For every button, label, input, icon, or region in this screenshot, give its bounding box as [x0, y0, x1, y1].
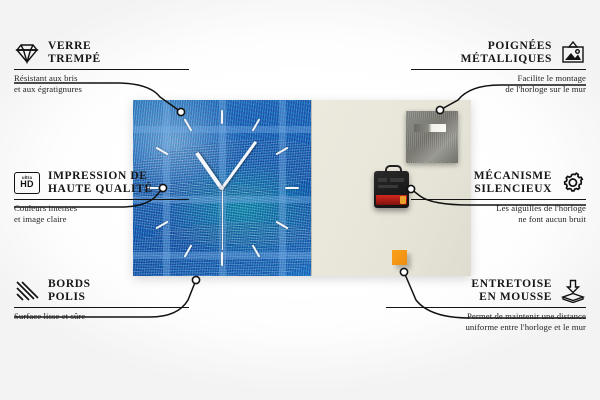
ultra-hd-badge-icon: ultra HD [14, 172, 40, 194]
hanging-frame-icon [560, 41, 586, 65]
foam-spacer-icon [560, 279, 586, 303]
callout-subtitle-line1: Les aiguilles de l'horloge [411, 203, 586, 214]
callout-title-line1: MÉCANISME [474, 170, 552, 183]
leader-dot-bords-polis [192, 276, 199, 283]
movement-detail [390, 178, 404, 182]
clock-second-hand [222, 188, 223, 250]
clock-tick [221, 110, 223, 124]
movement-detail [378, 178, 387, 182]
callout-subtitle-line2: ne font aucun bruit [411, 214, 586, 225]
clock-center-pin [220, 186, 224, 190]
callout-entretoise-en-mousse[interactable]: ENTRETOISE EN MOUSSE Permet de maintenir… [386, 278, 586, 333]
callout-title-line1: VERRE [48, 40, 101, 53]
callout-subtitle-line2: uniforme entre l'horloge et le mur [386, 322, 586, 333]
clock-tick [285, 187, 299, 189]
callout-title-line2: HAUTE QUALITÉ [48, 183, 153, 196]
callout-subtitle-line1: Permet de maintenir une distance [386, 311, 586, 322]
callout-subtitle-line2: et aux égratignures [14, 84, 189, 95]
callout-subtitle-line1: Facilite le montage [411, 73, 586, 84]
quartz-movement [374, 171, 409, 208]
infographic-canvas: VERRE TREMPÉ Résistant aux bris et aux é… [0, 0, 600, 400]
gear-icon [560, 171, 586, 195]
metal-hanger-plate [406, 111, 458, 163]
callout-divider [14, 307, 189, 308]
callout-divider [411, 199, 586, 200]
callout-title-line1: POIGNÉES [461, 40, 552, 53]
callout-divider [386, 307, 586, 308]
callout-title-line2: TREMPÉ [48, 53, 101, 66]
grid-line-h1 [133, 126, 311, 133]
callout-title-line1: IMPRESSION DE [48, 170, 153, 183]
callout-title-line2: MÉTALLIQUES [461, 53, 552, 66]
callout-title-line2: EN MOUSSE [471, 291, 552, 304]
battery [376, 195, 407, 205]
callout-title-line1: ENTRETOISE [471, 278, 552, 291]
callout-mecanisme-silencieux[interactable]: MÉCANISME SILENCIEUX Les aiguilles de l'… [411, 170, 586, 225]
callout-verre-trempe[interactable]: VERRE TREMPÉ Résistant aux bris et aux é… [14, 40, 189, 95]
callout-subtitle-line2: et image claire [14, 214, 189, 225]
callout-title-line2: POLIS [48, 291, 91, 304]
polished-edge-icon [14, 279, 40, 303]
panel-seam [311, 100, 312, 276]
clock-tick [221, 252, 223, 266]
callout-subtitle-line2: de l'horloge sur le mur [411, 84, 586, 95]
callout-divider [14, 69, 189, 70]
callout-divider [411, 69, 586, 70]
diamond-icon [14, 41, 40, 65]
callout-poignees-metalliques[interactable]: POIGNÉES MÉTALLIQUES Facilite le montage… [411, 40, 586, 95]
callout-impression-haute-qualite[interactable]: ultra HD IMPRESSION DE HAUTE QUALITÉ Cou… [14, 170, 189, 225]
callout-divider [14, 199, 189, 200]
hanger-loop-icon [385, 165, 402, 176]
badge-hd-text: HD [20, 180, 34, 190]
movement-detail [378, 185, 398, 188]
foam-spacer [392, 250, 407, 265]
callout-subtitle-line1: Résistant aux bris [14, 73, 189, 84]
callout-title-line2: SILENCIEUX [474, 183, 552, 196]
callout-subtitle-line1: Surface lisse et sûre [14, 311, 189, 322]
callout-subtitle-line1: Couleurs intenses [14, 203, 189, 214]
callout-title-line1: BORDS [48, 278, 91, 291]
callout-bords-polis[interactable]: BORDS POLIS Surface lisse et sûre [14, 278, 189, 322]
hanger-slot [414, 124, 446, 132]
